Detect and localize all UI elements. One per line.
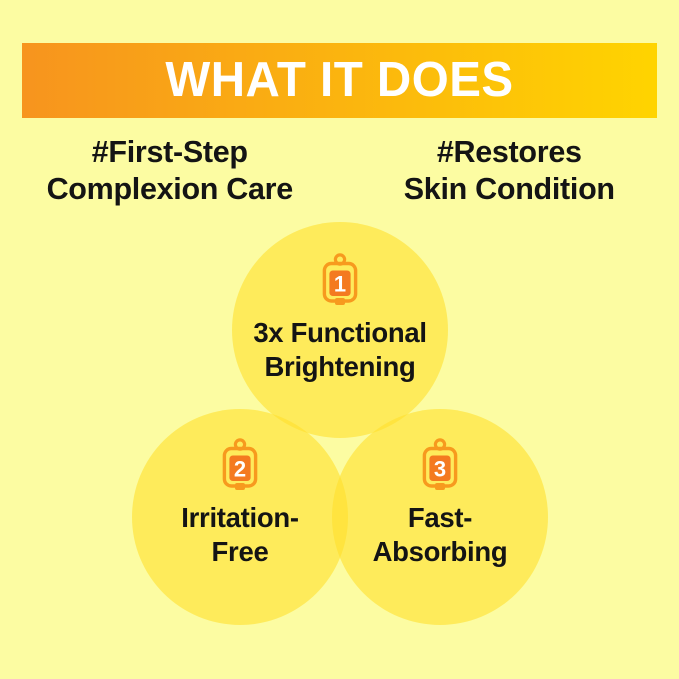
number-tag-icon: 3	[419, 437, 461, 493]
subtitle-first-step-line1: #First-Step	[0, 134, 340, 171]
badge-number: 2	[234, 456, 246, 481]
subtitle-row: #First-Step Complexion Care #Restores Sk…	[0, 134, 679, 208]
subtitle-restores-line2: Skin Condition	[340, 171, 679, 208]
venn-item-1-label: 3x Functional Brightening	[222, 316, 458, 383]
venn-item-3: 3 Fast- Absorbing	[322, 437, 558, 568]
venn-item-1-label-line1: 3x Functional	[222, 316, 458, 350]
subtitle-first-step-line2: Complexion Care	[0, 171, 340, 208]
number-tag-icon: 1	[319, 252, 361, 308]
page-title: WHAT IT DOES	[165, 56, 513, 105]
subtitle-restores-line1: #Restores	[340, 134, 679, 171]
header-banner: WHAT IT DOES	[22, 43, 657, 118]
venn-item-3-label-line2: Absorbing	[322, 535, 558, 569]
badge-number: 3	[434, 456, 446, 481]
number-tag-icon: 2	[219, 437, 261, 493]
subtitle-restores: #Restores Skin Condition	[340, 134, 679, 208]
venn-item-1-label-line2: Brightening	[222, 350, 458, 384]
venn-item-3-label: Fast- Absorbing	[322, 501, 558, 568]
badge-number: 1	[334, 271, 346, 296]
infographic-canvas: WHAT IT DOES #First-Step Complexion Care…	[0, 0, 679, 679]
venn-item-1: 1 3x Functional Brightening	[222, 252, 458, 383]
venn-item-3-label-line1: Fast-	[322, 501, 558, 535]
subtitle-first-step: #First-Step Complexion Care	[0, 134, 340, 208]
